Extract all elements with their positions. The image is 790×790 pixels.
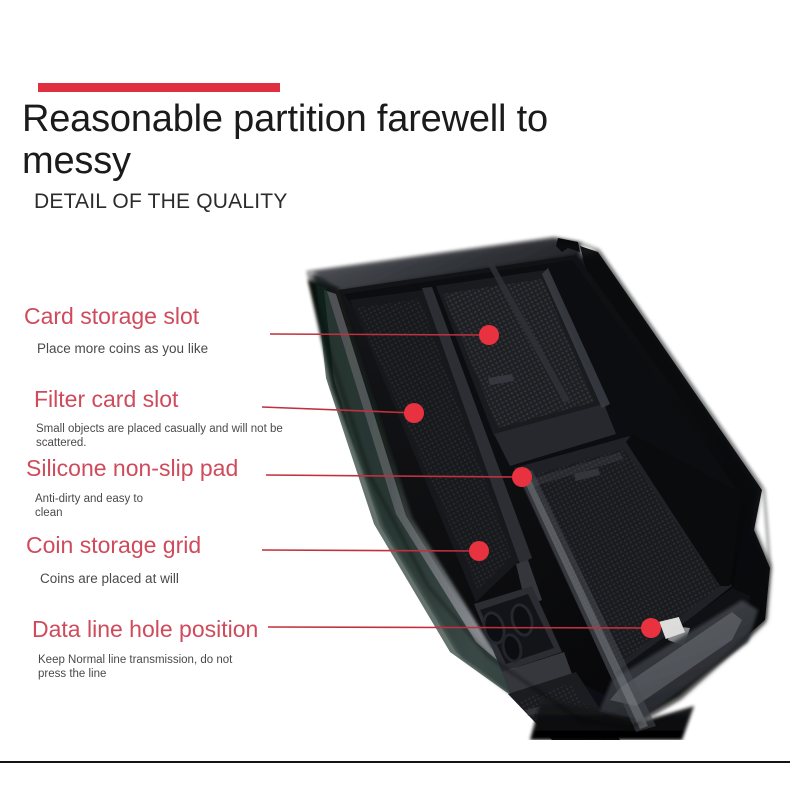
page-subtitle: DETAIL OF THE QUALITY (34, 190, 288, 214)
callout-description: Place more coins as you like (37, 341, 208, 357)
callout-description: Anti-dirty and easy to clean (35, 492, 155, 520)
callout-data-line-hole-position: Data line hole position Keep Normal line… (32, 616, 258, 681)
callout-card-storage-slot: Card storage slot Place more coins as yo… (24, 303, 208, 357)
callout-title: Data line hole position (32, 616, 258, 643)
callout-description: Small objects are placed casually and wi… (36, 422, 284, 450)
accent-bar (38, 83, 280, 92)
callout-filter-card-slot: Filter card slot Small objects are place… (34, 386, 284, 450)
callout-description: Coins are placed at will (40, 571, 201, 587)
bottom-divider (0, 761, 790, 763)
callout-title: Coin storage grid (26, 532, 201, 559)
callout-description: Keep Normal line transmission, do not pr… (38, 653, 238, 681)
infographic-page: Reasonable partition farewell to messy D… (0, 0, 790, 790)
callout-title: Card storage slot (24, 303, 208, 330)
callout-coin-storage-grid: Coin storage grid Coins are placed at wi… (26, 532, 201, 587)
callout-title: Silicone non-slip pad (26, 455, 238, 482)
page-title: Reasonable partition farewell to messy (22, 98, 582, 182)
callout-title: Filter card slot (34, 386, 284, 413)
callout-silicone-non-slip-pad: Silicone non-slip pad Anti-dirty and eas… (26, 455, 238, 520)
product-image (280, 228, 790, 740)
